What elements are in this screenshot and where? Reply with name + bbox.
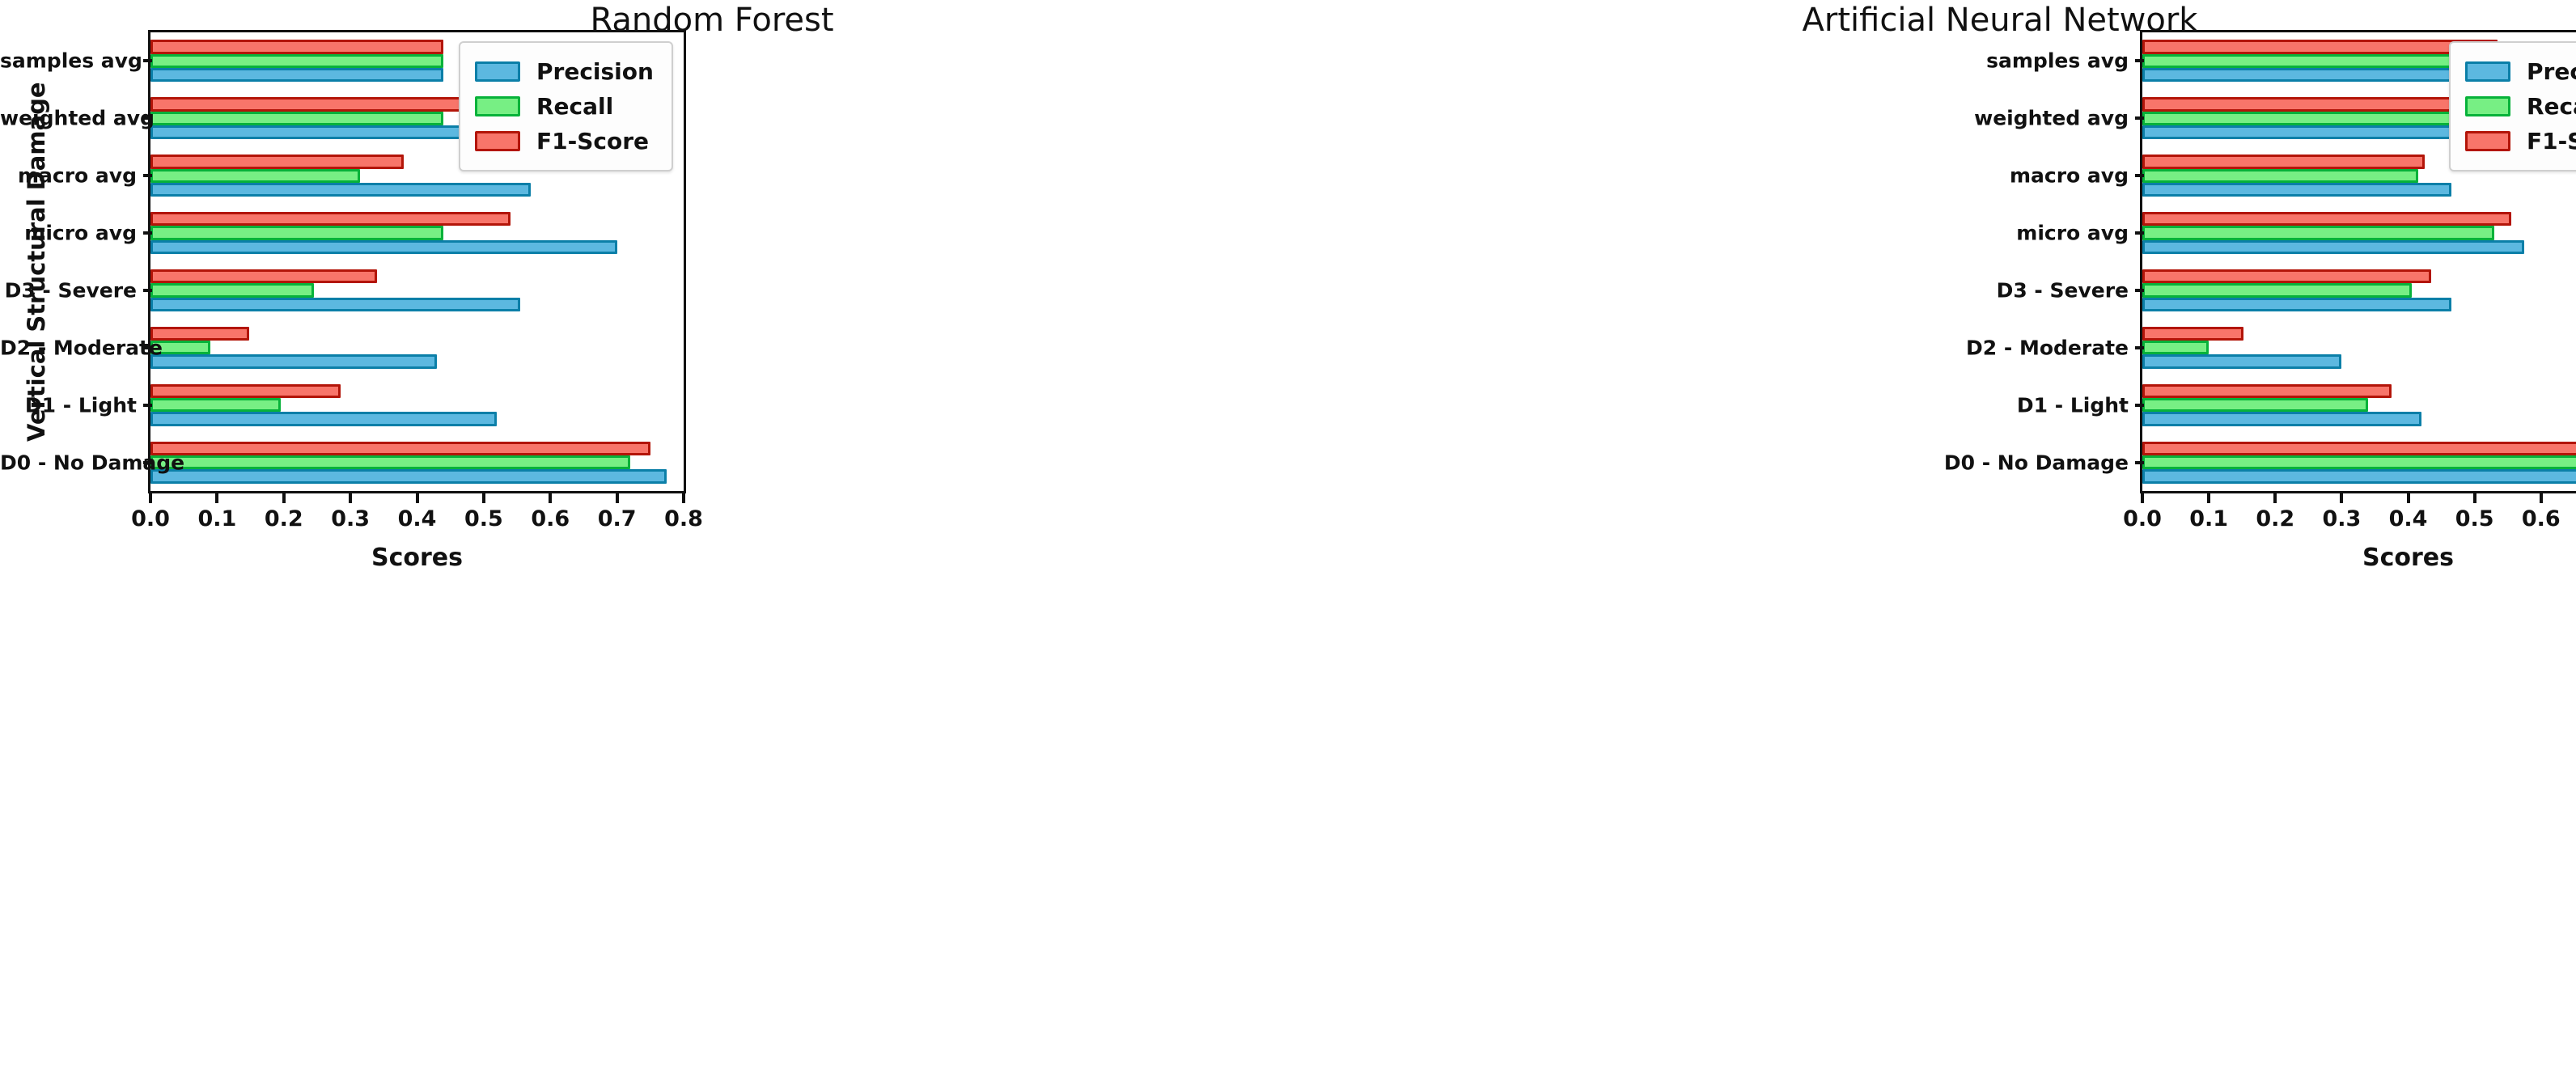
- y-tick-label: D0 - No Damage: [0, 451, 137, 474]
- legend-item-recall[interactable]: Recall: [2465, 89, 2576, 124]
- x-tick: [282, 493, 286, 503]
- legend-swatch-precision-icon: [475, 61, 520, 82]
- bar-precision: [2142, 412, 2421, 425]
- y-tick: [143, 59, 152, 62]
- y-tick: [2135, 461, 2144, 464]
- x-tick-label: 0.8: [664, 506, 703, 531]
- legend-item-recall[interactable]: Recall: [475, 89, 654, 124]
- bar-recall: [150, 226, 443, 239]
- y-tick-label: samples avg: [0, 49, 137, 73]
- x-tick-label: 0.4: [398, 506, 437, 531]
- y-tick-label: macro avg: [0, 164, 137, 188]
- bar-precision: [150, 68, 443, 82]
- y-tick-label: D1 - Light: [0, 393, 137, 417]
- y-tick: [2135, 174, 2144, 177]
- x-tick-label: 0.4: [2389, 506, 2428, 531]
- bar-f1: [2142, 269, 2431, 283]
- y-tick: [143, 174, 152, 177]
- x-tick: [149, 493, 152, 503]
- bar-recall: [150, 54, 443, 68]
- x-tick: [549, 493, 552, 503]
- bar-f1: [150, 384, 341, 398]
- bar-recall: [150, 283, 314, 297]
- y-tick-label: D2 - Moderate: [0, 336, 137, 359]
- x-tick: [2540, 493, 2543, 503]
- x-tick-label: 0.0: [2123, 506, 2162, 531]
- bar-f1: [2142, 384, 2392, 398]
- y-tick: [2135, 231, 2144, 235]
- bar-recall: [150, 455, 630, 469]
- bar-f1: [2142, 155, 2425, 168]
- bar-f1: [2142, 40, 2498, 53]
- bar-precision: [150, 412, 497, 425]
- x-tick: [2141, 493, 2144, 503]
- y-tick-label: samples avg: [1424, 49, 2129, 73]
- y-tick: [143, 231, 152, 235]
- chart-panel-random-forest: Random Forest Vertical Structural Damage…: [0, 0, 1424, 1088]
- x-tick: [215, 493, 218, 503]
- y-tick: [2135, 404, 2144, 407]
- legend-label-precision: Precision: [536, 58, 654, 85]
- legend-label-recall: Recall: [536, 93, 613, 120]
- x-axis-title-right: Scores: [2362, 544, 2454, 572]
- legend-item-f1[interactable]: F1-Score: [2465, 124, 2576, 159]
- bar-f1: [150, 40, 443, 53]
- legend-item-precision[interactable]: Precision: [2465, 54, 2576, 89]
- x-tick: [682, 493, 685, 503]
- x-tick: [2473, 493, 2476, 503]
- bar-recall: [2142, 54, 2498, 68]
- bar-f1: [2142, 97, 2488, 111]
- y-tick-label: macro avg: [1424, 164, 2129, 188]
- bar-f1: [150, 155, 404, 168]
- legend-label-precision: Precision: [2527, 58, 2576, 85]
- bar-precision: [150, 183, 531, 197]
- bar-f1: [2142, 442, 2576, 455]
- bar-precision: [2142, 469, 2576, 483]
- x-tick-label: 0.1: [2189, 506, 2228, 531]
- x-tick: [2273, 493, 2277, 503]
- bar-recall: [150, 169, 360, 183]
- y-tick-label: D3 - Severe: [0, 278, 137, 302]
- x-tick-label: 0.7: [598, 506, 637, 531]
- y-tick: [2135, 289, 2144, 292]
- bar-f1: [150, 97, 481, 111]
- x-tick-label: 0.6: [531, 506, 570, 531]
- bar-precision: [150, 354, 437, 368]
- y-axis-title: Vertical Structural Damage: [23, 82, 50, 442]
- legend-label-recall: Recall: [2527, 93, 2576, 120]
- legend-right[interactable]: Precision Recall F1-Score: [2449, 41, 2576, 171]
- bar-f1: [150, 327, 249, 341]
- x-tick: [2407, 493, 2410, 503]
- x-tick-label: 0.2: [2256, 506, 2294, 531]
- bar-f1: [150, 212, 511, 226]
- y-tick-label: D2 - Moderate: [1424, 336, 2129, 359]
- x-tick-label: 0.0: [131, 506, 170, 531]
- x-tick: [2207, 493, 2210, 503]
- legend-swatch-precision-icon: [2465, 61, 2510, 82]
- y-tick-label: D1 - Light: [1424, 393, 2129, 417]
- bar-recall: [150, 398, 281, 412]
- y-tick: [143, 404, 152, 407]
- bar-f1: [2142, 212, 2511, 226]
- bar-recall: [2142, 455, 2576, 469]
- bar-precision: [2142, 240, 2524, 254]
- x-axis-title-left: Scores: [371, 544, 463, 572]
- bar-precision: [2142, 298, 2451, 311]
- bar-precision: [2142, 68, 2498, 82]
- x-tick-label: 0.3: [2322, 506, 2361, 531]
- bar-precision: [150, 469, 667, 483]
- y-tick-label: D3 - Severe: [1424, 278, 2129, 302]
- x-tick-label: 0.6: [2522, 506, 2561, 531]
- legend-swatch-recall-icon: [475, 96, 520, 116]
- x-tick: [349, 493, 352, 503]
- y-tick: [2135, 346, 2144, 349]
- bar-recall: [2142, 169, 2418, 183]
- x-tick: [616, 493, 619, 503]
- bar-recall: [2142, 398, 2368, 412]
- y-tick-label: weighted avg: [1424, 107, 2129, 130]
- x-tick-label: 0.1: [197, 506, 236, 531]
- legend-item-f1[interactable]: F1-Score: [475, 124, 654, 159]
- bar-precision: [150, 298, 520, 311]
- y-tick-label: D0 - No Damage: [1424, 451, 2129, 474]
- x-tick: [482, 493, 485, 503]
- legend-swatch-f1-icon: [2465, 131, 2510, 151]
- bar-f1: [2142, 327, 2243, 341]
- y-tick-label: micro avg: [0, 222, 137, 245]
- y-tick-label: weighted avg: [0, 107, 137, 130]
- legend-swatch-f1-icon: [475, 131, 520, 151]
- bar-recall: [2142, 112, 2498, 125]
- y-tick: [2135, 116, 2144, 120]
- bar-precision: [2142, 125, 2494, 139]
- y-tick-label: micro avg: [1424, 222, 2129, 245]
- x-tick-label: 0.3: [331, 506, 370, 531]
- bar-recall: [2142, 283, 2412, 297]
- y-tick: [143, 289, 152, 292]
- legend-swatch-recall-icon: [2465, 96, 2510, 116]
- legend-label-f1: F1-Score: [536, 128, 649, 155]
- x-tick-label: 0.5: [464, 506, 503, 531]
- figure-canvas: Random Forest Vertical Structural Damage…: [0, 0, 2576, 1088]
- bar-precision: [2142, 354, 2341, 368]
- y-tick: [2135, 59, 2144, 62]
- x-tick-label: 0.5: [2455, 506, 2494, 531]
- bar-recall: [150, 112, 443, 125]
- legend-item-precision[interactable]: Precision: [475, 54, 654, 89]
- bar-precision: [150, 240, 617, 254]
- chart-panel-artificial-neural-network: Artificial Neural Network D0 - No Damage…: [1424, 0, 2576, 1088]
- bar-precision: [2142, 183, 2451, 197]
- bar-recall: [2142, 341, 2209, 354]
- bar-f1: [150, 442, 650, 455]
- legend-left[interactable]: Precision Recall F1-Score: [459, 41, 673, 171]
- x-tick: [2340, 493, 2343, 503]
- x-tick-label: 0.2: [265, 506, 303, 531]
- legend-label-f1: F1-Score: [2527, 128, 2576, 155]
- bar-f1: [150, 269, 377, 283]
- bar-recall: [2142, 226, 2494, 239]
- x-tick: [416, 493, 419, 503]
